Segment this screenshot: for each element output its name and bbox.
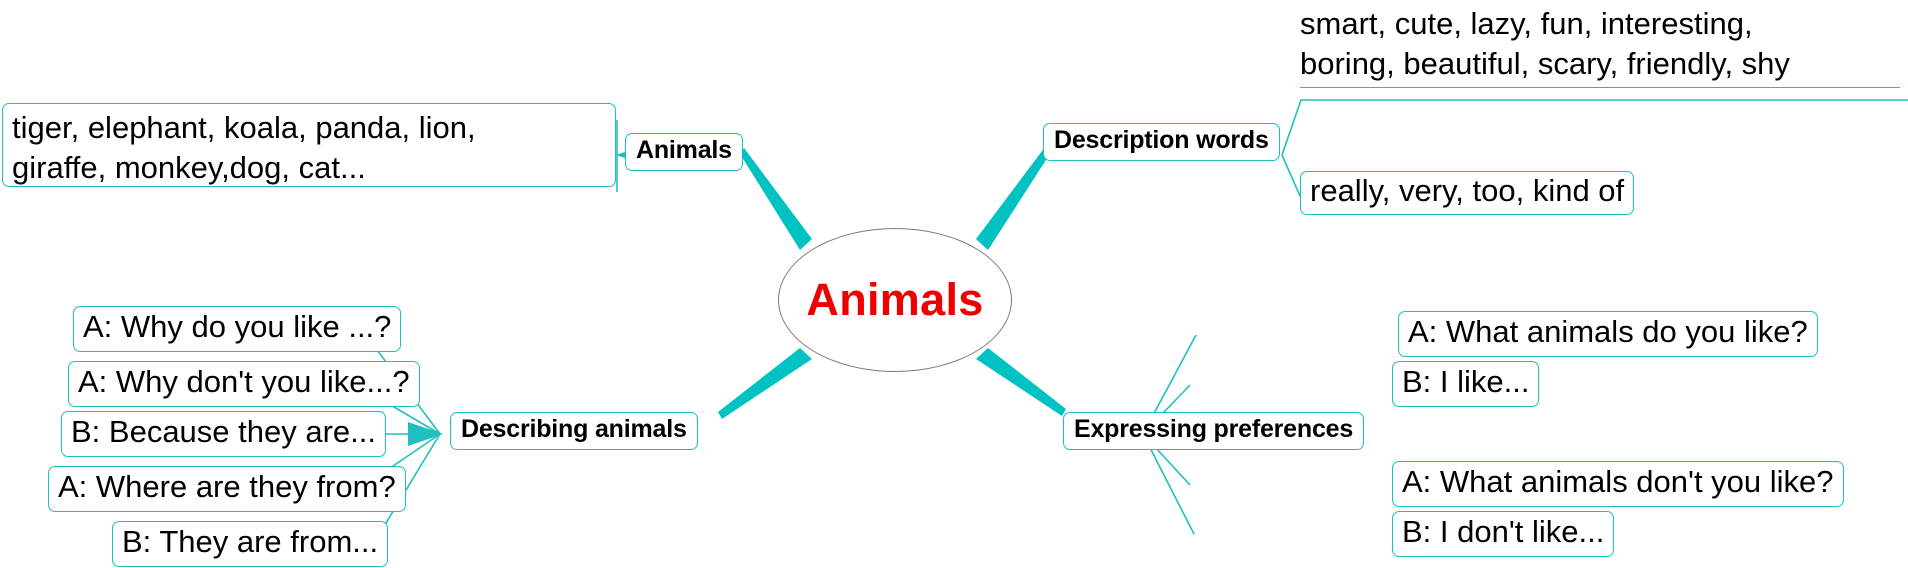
edge-root-to-expressing-preferences [976,348,1066,416]
leaf-expressing-3-text: A: What animals don't you like? [1402,465,1834,500]
edge-root-to-animals [740,148,812,250]
leaf-describing-3-text: B: Because they are... [71,415,376,450]
leaf-describing-4[interactable]: A: Where are they from? [48,466,406,512]
note-description-words-line-1: smart, cute, lazy, fun, interesting, [1300,4,1900,44]
leaf-degree-adverbs[interactable]: really, very, too, kind of [1300,171,1634,215]
leaf-expressing-4[interactable]: B: I don't like... [1392,511,1614,557]
leaf-describing-3[interactable]: B: Because they are... [61,411,386,457]
leaf-degree-adverbs-text: really, very, too, kind of [1310,174,1624,209]
edge-description-to-note [1282,100,1908,155]
leaf-expressing-1-text: A: What animals do you like? [1408,315,1808,350]
leaf-describing-2-text: A: Why don't you like...? [78,365,410,400]
leaf-describing-5[interactable]: B: They are from... [112,521,388,567]
branch-label-describing-animals-text: Describing animals [461,416,687,444]
leaf-expressing-2[interactable]: B: I like... [1392,361,1539,407]
root-label: Animals [806,274,983,326]
leaf-animals-list[interactable]: tiger, elephant, koala, panda, lion, gir… [2,103,616,187]
branch-label-animals[interactable]: Animals [625,133,743,171]
leaf-describing-5-text: B: They are from... [122,525,378,560]
leaf-animals-line-2: giraffe, monkey,dog, cat... [12,148,476,188]
leaf-expressing-1[interactable]: A: What animals do you like? [1398,311,1818,357]
arrowhead-describing-animals [408,422,443,446]
leaf-describing-4-text: A: Where are they from? [58,470,396,505]
note-description-words: smart, cute, lazy, fun, interesting, bor… [1300,4,1900,88]
leaf-describing-1-text: A: Why do you like ...? [83,310,391,345]
edge-root-to-describing-animals [718,348,812,419]
branch-label-description-words[interactable]: Description words [1043,123,1280,161]
mindmap-canvas: Animals Animals tiger, elephant, koala, … [0,0,1908,568]
branch-label-describing-animals[interactable]: Describing animals [450,412,698,450]
leaf-animals-line-1: tiger, elephant, koala, panda, lion, [12,108,476,148]
edge-root-to-description-words [976,143,1053,250]
leaf-describing-1[interactable]: A: Why do you like ...? [73,306,401,352]
leaf-describing-2[interactable]: A: Why don't you like...? [68,361,420,407]
leaf-expressing-3[interactable]: A: What animals don't you like? [1392,461,1844,507]
leaf-expressing-4-text: B: I don't like... [1402,515,1604,550]
edge-description-to-really [1282,155,1300,196]
root-node[interactable]: Animals [778,228,1012,372]
leaf-expressing-2-text: B: I like... [1402,365,1529,400]
branch-label-description-words-text: Description words [1054,127,1269,155]
note-description-words-line-2: boring, beautiful, scary, friendly, shy [1300,44,1900,84]
branch-label-expressing-preferences-text: Expressing preferences [1074,416,1353,444]
branch-label-animals-text: Animals [636,137,732,165]
branch-label-expressing-preferences[interactable]: Expressing preferences [1063,412,1364,450]
